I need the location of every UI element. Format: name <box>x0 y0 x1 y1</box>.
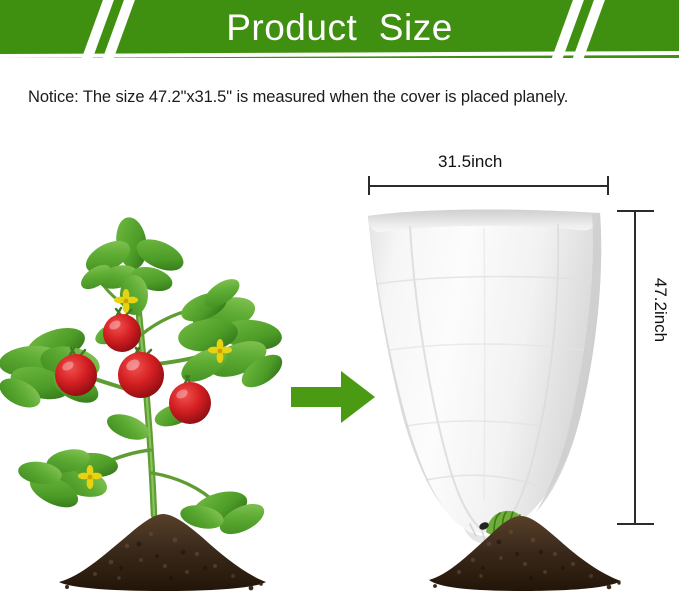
height-dimension-label: 47.2inch <box>650 250 670 370</box>
soil-mound-left <box>55 500 270 592</box>
page-title: Product Size <box>0 0 679 56</box>
width-dimension-line <box>369 185 608 187</box>
tomato-fruit <box>169 376 211 424</box>
header-banner: Product Size <box>0 0 679 58</box>
width-dimension-label: 31.5inch <box>438 152 502 172</box>
height-dimension-line <box>634 211 636 524</box>
soil-mound-right <box>425 500 625 592</box>
tomato-fruit <box>118 348 164 398</box>
cover-body <box>368 209 601 544</box>
plant-cover-illustration <box>352 200 622 545</box>
notice-text: Notice: The size 47.2"x31.5" is measured… <box>28 88 658 107</box>
